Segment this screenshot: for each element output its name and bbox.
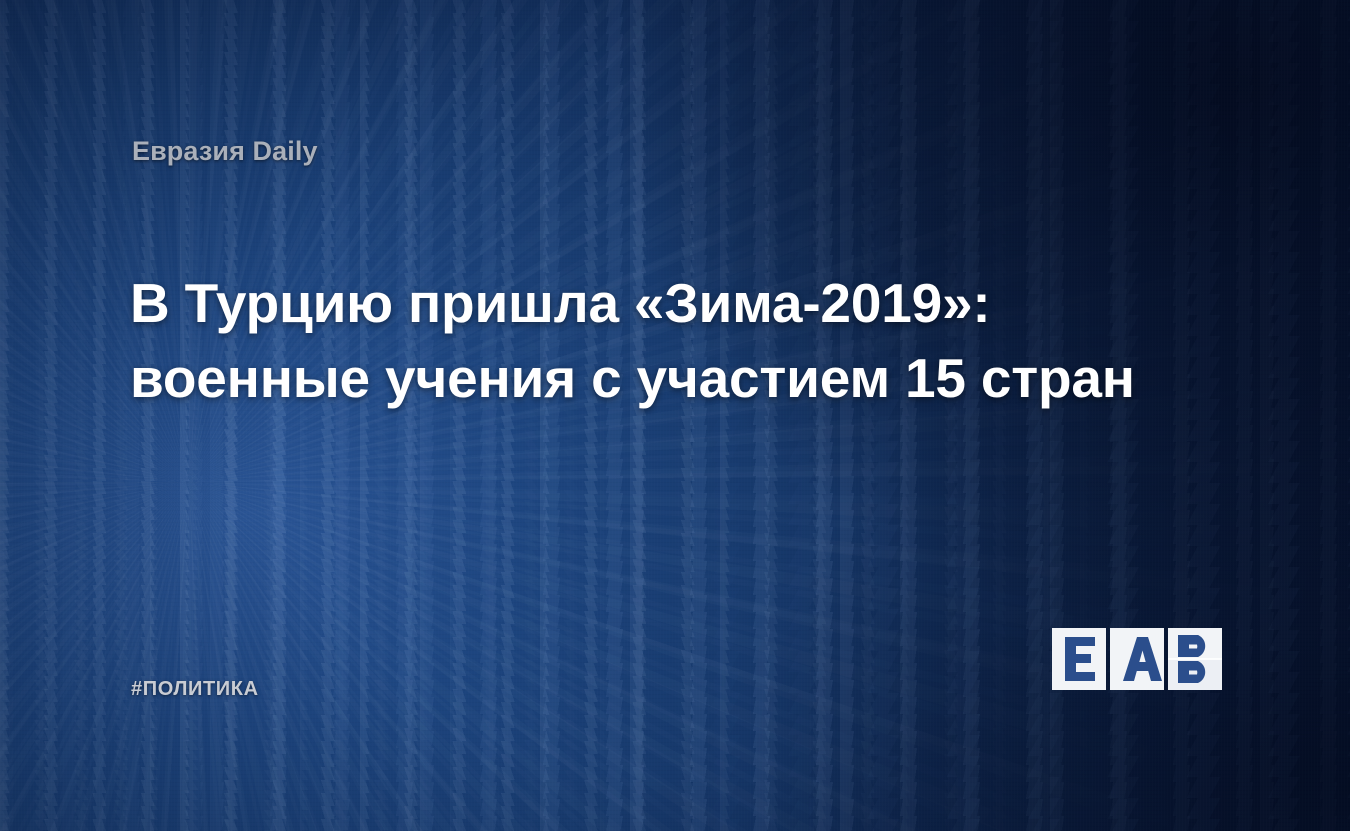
card-content: Евразия Daily В Турцию пришла «Зима-2019…: [0, 0, 1350, 831]
headline-line-2: военные учения с участием 15 стран: [130, 341, 1190, 416]
headline-line-1: В Турцию пришла «Зима-2019»:: [130, 266, 1190, 341]
logo-tile-seam: [1168, 658, 1222, 660]
eadaily-logo: [1052, 628, 1232, 690]
eadaily-logo-icon: [1052, 628, 1232, 690]
site-brand-name: Евразия Daily: [132, 136, 318, 167]
article-share-card: Евразия Daily В Турцию пришла «Зима-2019…: [0, 0, 1350, 831]
category-tag[interactable]: #ПОЛИТИКА: [131, 678, 259, 701]
page-title: В Турцию пришла «Зима-2019»: военные уче…: [130, 266, 1190, 416]
logo-letter-e: [1065, 637, 1095, 681]
